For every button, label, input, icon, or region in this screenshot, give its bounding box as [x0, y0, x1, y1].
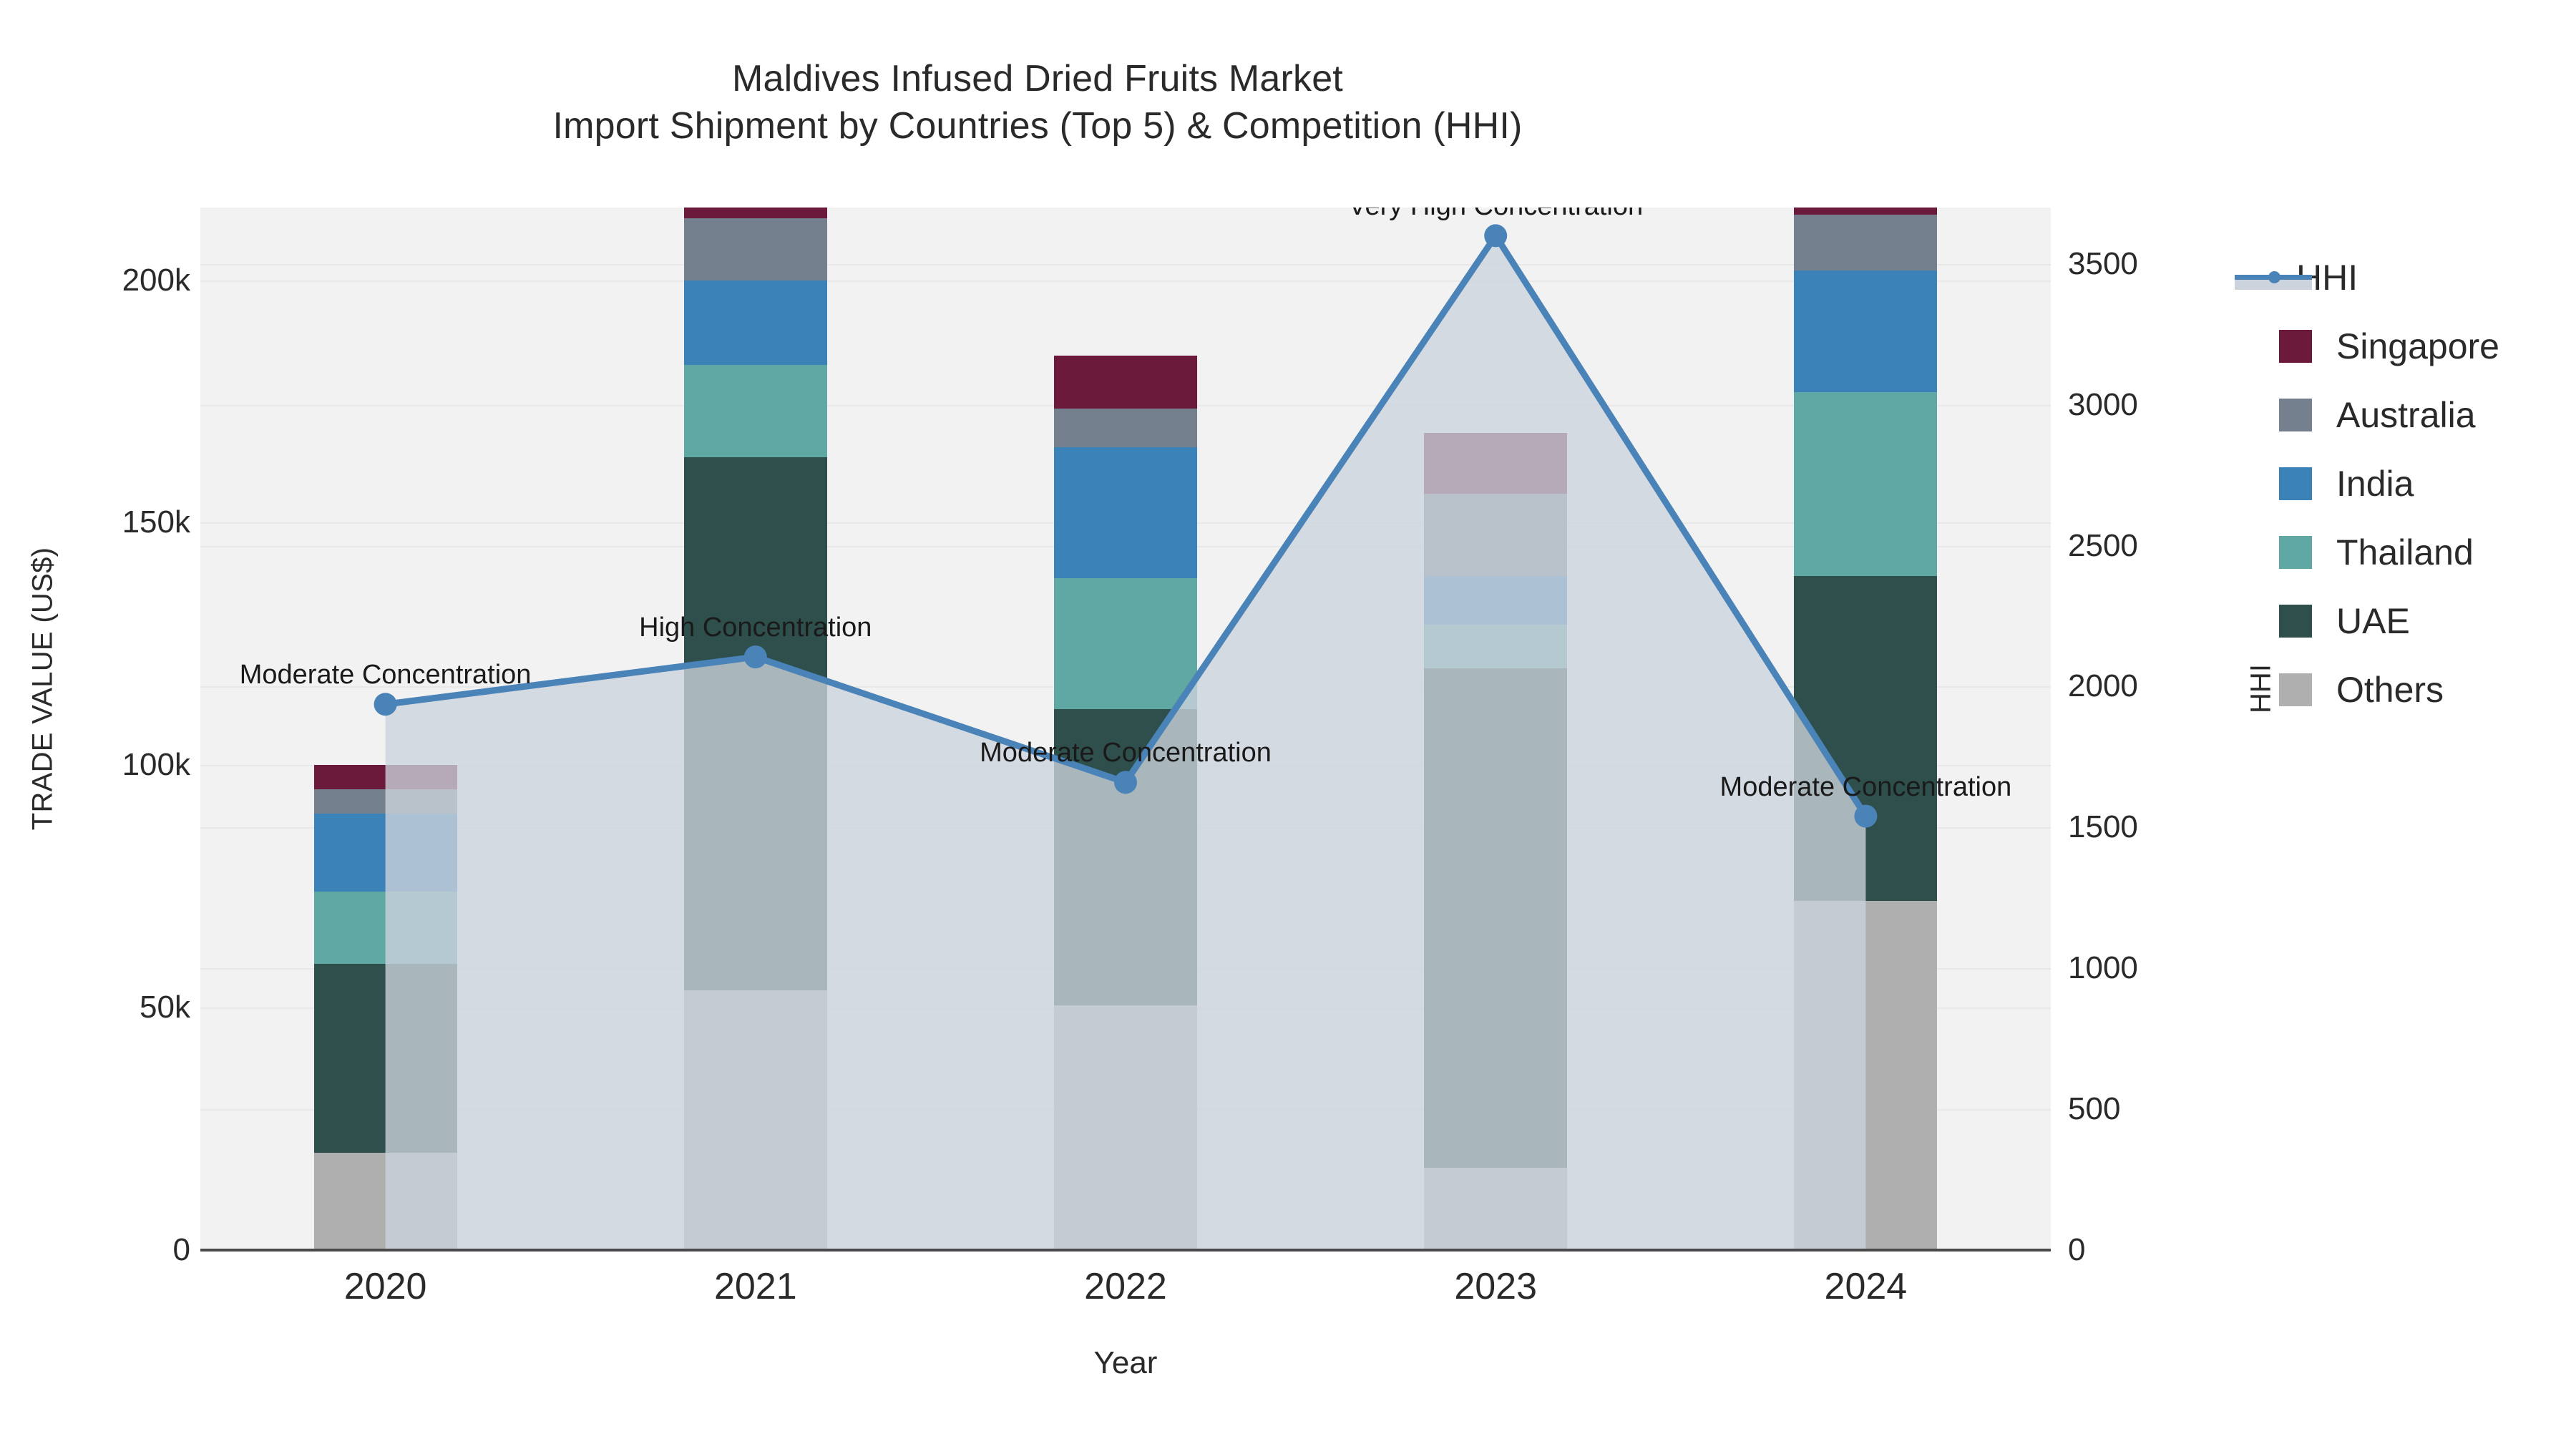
y-axis-left-tick-label: 200k [122, 263, 190, 298]
bar-segment-singapore[interactable] [1424, 433, 1567, 494]
bar-segment-others[interactable] [1054, 1005, 1197, 1250]
y-axis-left-tick-label: 100k [122, 747, 190, 783]
bar-segment-singapore[interactable] [314, 765, 457, 789]
legend-item-thailand[interactable]: Thailand [2279, 518, 2499, 587]
x-axis-tick-label[interactable]: 2021 [714, 1265, 797, 1308]
bar-segment-thailand[interactable] [314, 892, 457, 965]
bar-segment-others[interactable] [1424, 1168, 1567, 1250]
legend-item-hhi[interactable]: HHI [2279, 243, 2499, 312]
y-axis-right-tick-label: 2000 [2068, 668, 2138, 704]
bar-segment-singapore[interactable] [1054, 356, 1197, 409]
bar-column[interactable] [1424, 208, 1567, 1250]
legend-item-others[interactable]: Others [2279, 655, 2499, 724]
bar-segment-others[interactable] [314, 1153, 457, 1250]
y-axis-right-tick-label: 1000 [2068, 950, 2138, 986]
legend-swatch-icon [2279, 673, 2312, 706]
legend-item-uae[interactable]: UAE [2279, 587, 2499, 655]
hhi-annotation-label: Moderate Concentration [980, 738, 1272, 769]
bar-segment-india[interactable] [684, 280, 827, 366]
bar-segment-thailand[interactable] [1424, 625, 1567, 668]
bar-segment-india[interactable] [1054, 447, 1197, 578]
bar-segment-australia[interactable] [1424, 494, 1567, 576]
y-axis-left-tick-label: 150k [122, 504, 190, 540]
legend-item-india[interactable]: India [2279, 449, 2499, 518]
legend-item-singapore[interactable]: Singapore [2279, 312, 2499, 381]
chart-page: Maldives Infused Dried Fruits Market Imp… [0, 0, 2576, 1449]
x-axis-line [200, 1249, 2051, 1252]
chart-legend: HHISingaporeAustraliaIndiaThailandUAEOth… [2279, 243, 2499, 724]
legend-label: UAE [2336, 600, 2410, 642]
x-axis-label: Year [200, 1345, 2051, 1381]
bar-column[interactable] [1054, 208, 1197, 1250]
bar-segment-singapore[interactable] [1794, 208, 1937, 215]
x-axis-tick-label[interactable]: 2020 [344, 1265, 427, 1308]
plot-inner: Moderate ConcentrationHigh Concentration… [200, 208, 2051, 1250]
bar-segment-india[interactable] [1424, 576, 1567, 625]
bar-segment-uae[interactable] [314, 964, 457, 1153]
hhi-annotation-label: Very High Concentration [1348, 208, 1643, 222]
chart-title: Maldives Infused Dried Fruits Market [0, 56, 2075, 103]
bar-segment-australia[interactable] [1054, 409, 1197, 447]
bar-segment-india[interactable] [1794, 270, 1937, 391]
y-axis-left-tick-label: 50k [140, 990, 190, 1025]
bar-segment-thailand[interactable] [684, 365, 827, 457]
y-axis-right-tick-label: 3500 [2068, 246, 2138, 282]
legend-swatch-icon [2279, 399, 2312, 431]
bar-segment-uae[interactable] [684, 457, 827, 990]
chart-subtitle: Import Shipment by Countries (Top 5) & C… [0, 103, 2075, 150]
y-axis-right-label: HHI [2245, 582, 2278, 796]
y-axis-right-tick-label: 1500 [2068, 809, 2138, 845]
bar-segment-others[interactable] [1794, 901, 1937, 1250]
legend-label: Singapore [2336, 326, 2499, 367]
x-axis-tick-label[interactable]: 2024 [1825, 1265, 1908, 1308]
y-axis-right-tick-label: 500 [2068, 1091, 2120, 1127]
bar-segment-uae[interactable] [1424, 668, 1567, 1168]
x-axis-tick-label[interactable]: 2023 [1454, 1265, 1537, 1308]
legend-label: Australia [2336, 394, 2476, 436]
legend-swatch-icon [2279, 467, 2312, 500]
legend-label: India [2336, 463, 2414, 504]
legend-label: Thailand [2336, 532, 2474, 573]
legend-line-marker-icon [2235, 261, 2312, 294]
bar-column[interactable] [684, 208, 827, 1250]
y-axis-left-tick-label: 0 [173, 1232, 190, 1268]
bar-column[interactable] [1794, 208, 1937, 1250]
hhi-annotation-label: High Concentration [639, 613, 872, 643]
legend-item-australia[interactable]: Australia [2279, 381, 2499, 449]
y-axis-right-tick-label: 3000 [2068, 387, 2138, 423]
bar-segment-thailand[interactable] [1054, 578, 1197, 709]
legend-swatch-icon [2279, 605, 2312, 638]
bar-column[interactable] [314, 208, 457, 1250]
plot-area: Moderate ConcentrationHigh Concentration… [200, 208, 2051, 1250]
hhi-annotation-label: Moderate Concentration [1720, 772, 2012, 803]
bar-segment-australia[interactable] [314, 789, 457, 814]
y-axis-right-tick-label: 2500 [2068, 528, 2138, 564]
bar-segment-australia[interactable] [684, 218, 827, 280]
hhi-annotation-label: Moderate Concentration [240, 660, 532, 691]
chart-title-block: Maldives Infused Dried Fruits Market Imp… [0, 56, 2075, 150]
bar-segment-singapore[interactable] [684, 208, 827, 218]
legend-label: Others [2336, 669, 2444, 711]
bar-segment-australia[interactable] [1794, 215, 1937, 270]
x-axis-tick-label[interactable]: 2022 [1084, 1265, 1167, 1308]
y-axis-right-tick-label: 0 [2068, 1232, 2085, 1268]
bar-segment-india[interactable] [314, 814, 457, 891]
bar-segment-thailand[interactable] [1794, 392, 1937, 577]
legend-line-dot-icon [2268, 271, 2280, 283]
bar-segment-uae[interactable] [1794, 576, 1937, 901]
y-axis-left-label: TRADE VALUE (US$) [27, 467, 59, 911]
legend-swatch-icon [2279, 536, 2312, 569]
legend-swatch-icon [2279, 330, 2312, 363]
bar-segment-others[interactable] [684, 990, 827, 1250]
